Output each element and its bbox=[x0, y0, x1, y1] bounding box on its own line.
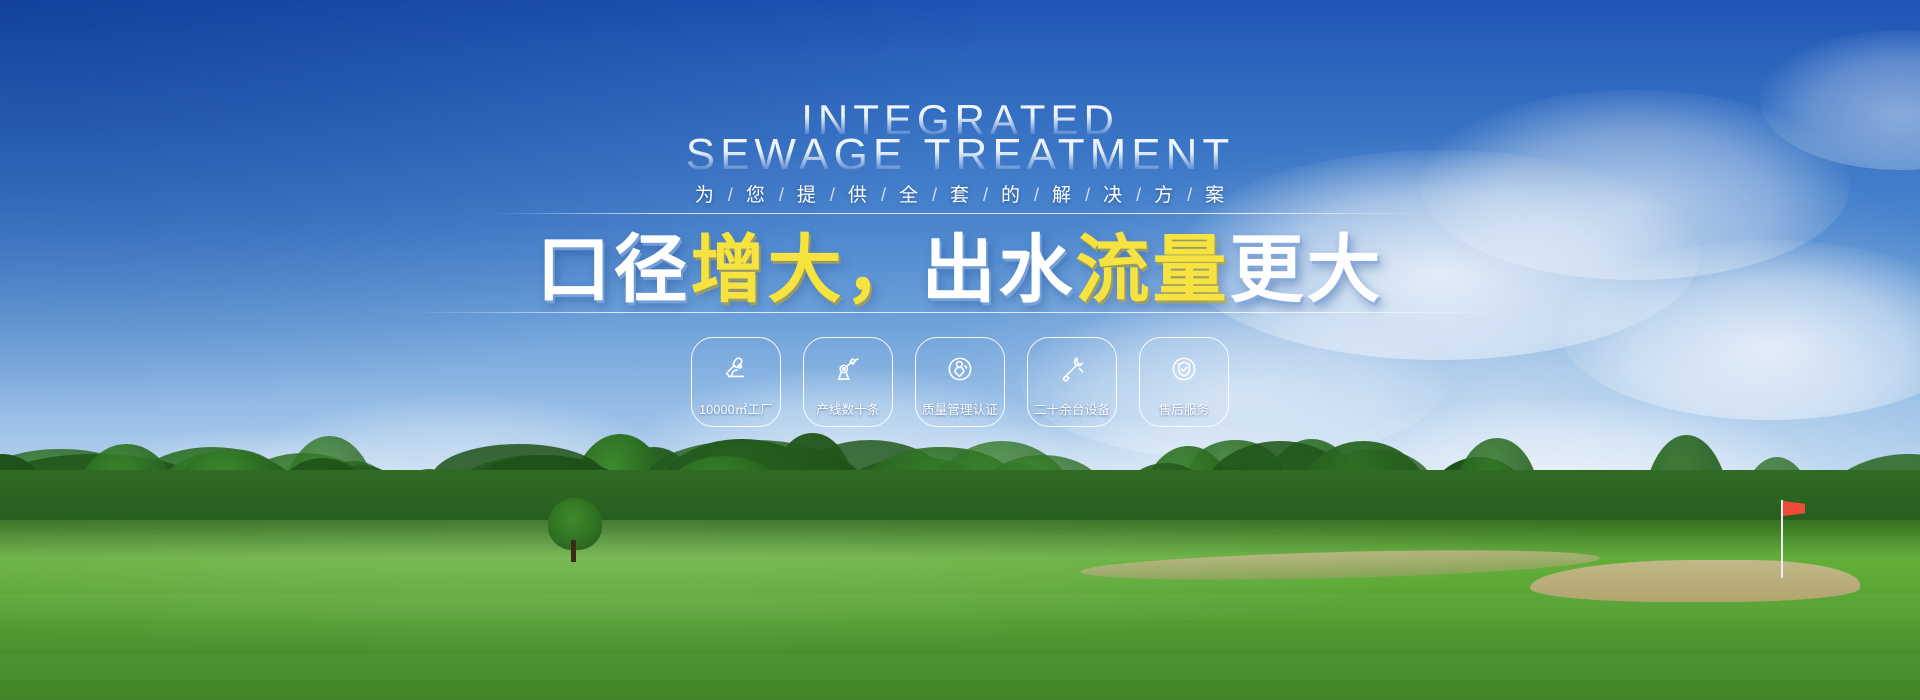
feature-badge[interactable]: 质量管理认证 bbox=[915, 337, 1005, 427]
headline-segment: 口径 bbox=[537, 226, 691, 313]
subtitle-char: 决 bbox=[1103, 180, 1123, 207]
robot-arm-icon bbox=[831, 352, 865, 386]
subtitle-separator: / bbox=[830, 185, 835, 206]
headline-segment: ， bbox=[845, 226, 922, 313]
subtitle-separator: / bbox=[1085, 185, 1090, 206]
certified-person-icon bbox=[943, 352, 977, 386]
feature-badge[interactable]: 10000㎡工厂 bbox=[691, 337, 781, 427]
subtitle-char: 您 bbox=[746, 180, 766, 207]
headline-segment: 流量 bbox=[1076, 226, 1230, 313]
feature-badge-label: 二十余台设备 bbox=[1034, 399, 1110, 418]
subtitle-separator: / bbox=[1136, 185, 1141, 206]
wrench-tool-icon bbox=[1055, 352, 1089, 386]
subtitle-separator: / bbox=[1034, 185, 1039, 206]
subtitle-char: 供 bbox=[848, 180, 868, 207]
headline-segment: 增大 bbox=[691, 226, 845, 313]
banner-content: INTEGRATED SEWAGE TREATMENT 为/您/提/供/全/套/… bbox=[0, 0, 1920, 700]
english-heading: INTEGRATED SEWAGE TREATMENT bbox=[0, 100, 1920, 176]
feature-badge-label: 10000㎡工厂 bbox=[699, 399, 773, 418]
subtitle-char: 案 bbox=[1205, 180, 1225, 207]
subtitle-separator: / bbox=[779, 185, 784, 206]
divider-bottom bbox=[410, 312, 1510, 313]
feature-badge[interactable]: 产线数十条 bbox=[803, 337, 893, 427]
main-headline: 口径增大，出水流量更大 bbox=[0, 226, 1920, 313]
feature-badge-label: 产线数十条 bbox=[816, 399, 880, 418]
hero-banner: INTEGRATED SEWAGE TREATMENT 为/您/提/供/全/套/… bbox=[0, 0, 1920, 700]
feature-badge[interactable]: 售后服务 bbox=[1139, 337, 1229, 427]
feature-badge[interactable]: 二十余台设备 bbox=[1027, 337, 1117, 427]
subtitle-separator: / bbox=[881, 185, 886, 206]
feature-badge-label: 质量管理认证 bbox=[922, 399, 998, 418]
subtitle-char: 解 bbox=[1052, 180, 1072, 207]
subtitle-char: 的 bbox=[1001, 180, 1021, 207]
headline-segment: 出水 bbox=[922, 226, 1076, 313]
feature-badge-label: 售后服务 bbox=[1159, 399, 1210, 418]
subtitle-separator: / bbox=[932, 185, 937, 206]
subtitle-char: 全 bbox=[899, 180, 919, 207]
subtitle-separator: / bbox=[983, 185, 988, 206]
subtitle-separator: / bbox=[728, 185, 733, 206]
microscope-icon bbox=[719, 352, 753, 386]
feature-badge-list: 10000㎡工厂产线数十条质量管理认证二十余台设备售后服务 bbox=[0, 337, 1920, 427]
subtitle-char: 提 bbox=[797, 180, 817, 207]
english-heading-line2: SEWAGE TREATMENT bbox=[0, 134, 1920, 176]
subtitle-char: 为 bbox=[695, 180, 715, 207]
headline-segment: 更大 bbox=[1230, 226, 1384, 313]
subtitle-char: 套 bbox=[950, 180, 970, 207]
subtitle-slash-row: 为/您/提/供/全/套/的/解/决/方/案 bbox=[0, 180, 1920, 207]
divider-top bbox=[490, 213, 1430, 214]
subtitle-separator: / bbox=[1187, 185, 1192, 206]
shield-check-icon bbox=[1167, 352, 1201, 386]
subtitle-char: 方 bbox=[1154, 180, 1174, 207]
